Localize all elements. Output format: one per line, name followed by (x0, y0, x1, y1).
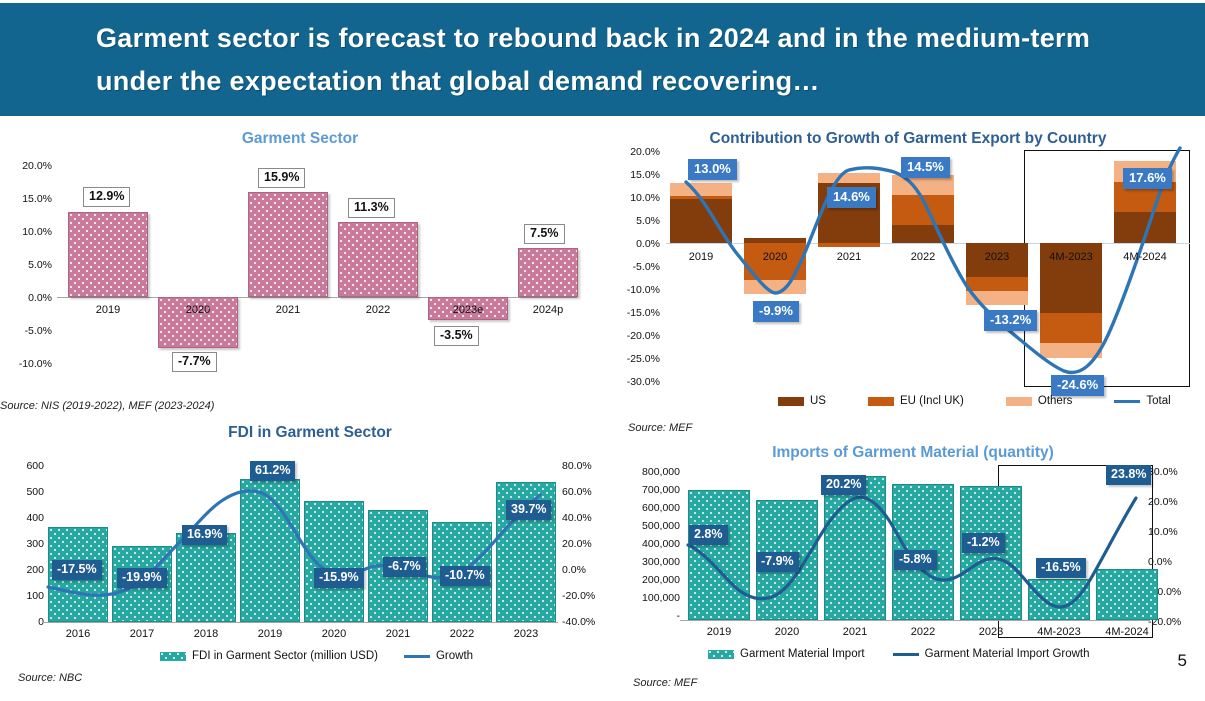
ytick-contrib-5: -5.0% (608, 261, 660, 273)
ytick-imports-right-0: 30.0% (1148, 466, 1204, 478)
bar-2021-eu[interactable] (818, 243, 880, 247)
ytick-fdi-left-5: 100 (0, 590, 44, 602)
bar-2023-eu[interactable] (966, 277, 1028, 291)
ytick-garment-3: 5.0% (0, 259, 52, 271)
xtick-imports-2: 2021 (824, 626, 886, 638)
page-title-line2: under the expectation that global demand… (96, 60, 1090, 103)
data-label-fdi-2022: -10.7% (440, 566, 490, 586)
ytick-contrib-0: 20.0% (608, 146, 660, 158)
ytick-imports-left-7: 100,000 (618, 592, 680, 604)
ytick-imports-left-2: 600,000 (618, 502, 680, 514)
ytick-imports-left-8: - (618, 610, 680, 622)
bar-4m2023-others[interactable] (1040, 343, 1102, 358)
data-label-contrib-4m2024: 17.6% (1123, 168, 1172, 189)
bar-imports-2019[interactable] (688, 490, 750, 620)
data-label-contrib-2020: -9.9% (753, 301, 799, 322)
data-label-contrib-2021: 14.6% (827, 187, 876, 208)
xtick-garment-1: 2020 (158, 304, 238, 316)
ytick-imports-left-1: 700,000 (618, 484, 680, 496)
data-label-imports-4m2023: -16.5% (1036, 558, 1086, 578)
chart-garment-sector: Garment Sector 20.0% 15.0% 10.0% 5.0% 0.… (0, 130, 600, 415)
legend-swatch-us (778, 397, 804, 406)
xtick-imports-0: 2019 (688, 626, 750, 638)
xtick-imports-4: 2023 (960, 626, 1022, 638)
xtick-fdi-0: 2016 (48, 628, 108, 640)
data-label-imports-2019: 2.8% (689, 525, 728, 545)
xtick-contrib-1: 2020 (744, 251, 806, 263)
bar-fdi-2020[interactable] (304, 501, 364, 622)
bar-2023-others[interactable] (966, 291, 1028, 305)
ytick-imports-left-5: 300,000 (618, 556, 680, 568)
ytick-fdi-left-2: 400 (0, 512, 44, 524)
xtick-garment-2: 2021 (248, 304, 328, 316)
xtick-contrib-5: 4M-2023 (1040, 251, 1102, 263)
data-label-2024p: 7.5% (524, 224, 565, 244)
legend-label-fdi: FDI in Garment Sector (million USD) (192, 650, 378, 662)
xtick-contrib-3: 2022 (892, 251, 954, 263)
data-label-fdi-2016: -17.5% (52, 560, 102, 580)
ytick-fdi-left-0: 600 (0, 460, 44, 472)
bar-2021[interactable] (248, 192, 328, 297)
data-label-fdi-2017: -19.9% (117, 568, 167, 588)
xtick-fdi-5: 2021 (368, 628, 428, 640)
ytick-imports-left-4: 400,000 (618, 538, 680, 550)
chart-contribution-to-growth: Contribution to Growth of Garment Export… (608, 130, 1205, 440)
chart-title-garment-sector: Garment Sector (0, 130, 600, 148)
legend-item-material-import-growth[interactable]: Garment Material Import Growth (893, 648, 1090, 660)
ytick-fdi-left-1: 500 (0, 486, 44, 498)
ytick-contrib-1: 15.0% (608, 169, 660, 181)
legend-swatch-total (1114, 397, 1140, 406)
ytick-imports-left-0: 800,000 (618, 466, 680, 478)
ytick-contrib-8: -20.0% (608, 330, 660, 342)
legend-swatch-material-import-growth (893, 650, 919, 659)
legend-label-eu: EU (Incl UK) (900, 395, 964, 407)
ytick-fdi-left-6: 0 (0, 616, 44, 628)
chart-title-contribution: Contribution to Growth of Garment Export… (628, 130, 1188, 148)
data-label-fdi-2018: 16.9% (182, 525, 227, 545)
data-label-fdi-2020: -15.9% (314, 568, 364, 588)
legend-item-us[interactable]: US (778, 395, 826, 407)
xtick-garment-4: 2023e (428, 304, 508, 316)
xtick-contrib-4: 2023 (966, 251, 1028, 263)
ytick-garment-0: 20.0% (0, 160, 52, 172)
bar-imports-2023[interactable] (960, 486, 1022, 620)
ytick-garment-1: 15.0% (0, 193, 52, 205)
legend-label-total: Total (1146, 395, 1170, 407)
xtick-garment-5: 2024p (518, 304, 578, 316)
xtick-garment-3: 2022 (338, 304, 418, 316)
xtick-fdi-6: 2022 (432, 628, 492, 640)
slide: Garment sector is forecast to rebound ba… (0, 0, 1205, 701)
ytick-contrib-7: -15.0% (608, 307, 660, 319)
ytick-contrib-10: -30.0% (608, 376, 660, 388)
xtick-imports-6: 4M-2024 (1096, 626, 1158, 638)
xtick-imports-1: 2020 (756, 626, 818, 638)
data-label-fdi-2021: -6.7% (383, 557, 426, 577)
xtick-fdi-3: 2019 (240, 628, 300, 640)
chart-imports-of-garment-material: Imports of Garment Material (quantity) 8… (608, 440, 1205, 701)
data-label-imports-4m2024: 23.8% (1106, 465, 1151, 485)
slide-header-banner: Garment sector is forecast to rebound ba… (0, 3, 1205, 116)
source-imports: Source: MEF (633, 677, 697, 689)
source-fdi: Source: NBC (18, 672, 82, 684)
xtick-fdi-4: 2020 (304, 628, 364, 640)
ytick-imports-left-6: 200,000 (618, 574, 680, 586)
data-label-imports-2021: 20.2% (821, 475, 866, 495)
ytick-contrib-9: -25.0% (608, 353, 660, 365)
page-title: Garment sector is forecast to rebound ba… (0, 17, 1130, 103)
bar-2019-others[interactable] (670, 183, 732, 196)
legend-label-us: US (810, 395, 826, 407)
bar-2021-others[interactable] (818, 173, 880, 183)
ytick-garment-4: 0.0% (0, 292, 52, 304)
legend-contribution: US EU (Incl UK) Others Total (778, 395, 1171, 407)
legend-fdi: FDI in Garment Sector (million USD) Grow… (160, 650, 473, 662)
bar-fdi-2019[interactable] (240, 479, 300, 622)
legend-label-material-import-growth: Garment Material Import Growth (925, 648, 1090, 660)
xtick-contrib-2: 2021 (818, 251, 880, 263)
ytick-garment-2: 10.0% (0, 226, 52, 238)
xtick-garment-0: 2019 (68, 304, 148, 316)
data-label-2023e: -3.5% (434, 326, 479, 346)
legend-item-material-import[interactable]: Garment Material Import (708, 648, 865, 660)
data-label-2020: -7.7% (172, 352, 217, 372)
data-label-imports-2023: -1.2% (962, 533, 1005, 553)
ytick-imports-left-3: 500,000 (618, 520, 680, 532)
legend-label-others: Others (1038, 395, 1073, 407)
chart-title-imports: Imports of Garment Material (quantity) (648, 444, 1178, 462)
legend-item-eu[interactable]: EU (Incl UK) (868, 395, 964, 407)
xtick-imports-3: 2022 (892, 626, 954, 638)
bar-imports-4m2023[interactable] (1028, 579, 1090, 620)
bar-imports-4m2024[interactable] (1096, 569, 1158, 620)
ytick-contrib-6: -10.0% (608, 284, 660, 296)
ytick-garment-6: -10.0% (0, 358, 52, 370)
legend-swatch-others (1006, 397, 1032, 406)
bar-imports-2021[interactable] (824, 476, 886, 620)
xtick-fdi-1: 2017 (112, 628, 172, 640)
x-axis-line (42, 622, 558, 623)
ytick-contrib-4: 0.0% (608, 238, 660, 250)
legend-swatch-eu (868, 397, 894, 406)
xtick-contrib-6: 4M-2024 (1114, 251, 1176, 263)
legend-item-others[interactable]: Others (1006, 395, 1073, 407)
ytick-imports-right-1: 20.0% (1148, 496, 1204, 508)
bar-2024p[interactable] (518, 248, 578, 297)
chart-title-fdi: FDI in Garment Sector (10, 424, 610, 442)
ytick-fdi-left-3: 300 (0, 538, 44, 550)
bar-4m2024-us[interactable] (1114, 212, 1176, 243)
data-label-contrib-4m2023: -24.6% (1051, 375, 1104, 396)
chart-fdi-in-garment-sector: FDI in Garment Sector 600 500 400 300 20… (0, 420, 620, 701)
legend-label-growth: Growth (436, 650, 473, 662)
legend-imports: Garment Material Import Garment Material… (708, 648, 1090, 660)
ytick-contrib-3: 5.0% (608, 215, 660, 227)
xtick-fdi-7: 2023 (496, 628, 556, 640)
ytick-garment-5: -5.0% (0, 325, 52, 337)
data-label-2021: 15.9% (258, 168, 305, 188)
page-number: 5 (1178, 651, 1187, 671)
bar-2019[interactable] (68, 212, 148, 297)
ytick-imports-right-2: 10.0% (1148, 526, 1204, 538)
bar-2019-eu[interactable] (670, 196, 732, 199)
bar-2019-us[interactable] (670, 198, 732, 243)
bar-2020-others[interactable] (744, 280, 806, 294)
bar-2022-us[interactable] (892, 225, 954, 243)
xtick-imports-5: 4M-2023 (1028, 626, 1090, 638)
data-label-contrib-2023: -13.2% (984, 310, 1037, 331)
legend-swatch-fdi (160, 652, 186, 661)
data-label-imports-2022: -5.8% (894, 550, 937, 570)
ytick-contrib-2: 10.0% (608, 192, 660, 204)
ytick-fdi-left-4: 200 (0, 564, 44, 576)
x-axis-line (680, 620, 1150, 621)
data-label-2019: 12.9% (83, 187, 130, 207)
legend-label-material-import: Garment Material Import (740, 648, 865, 660)
data-label-2022: 11.3% (348, 198, 395, 218)
bar-2022[interactable] (338, 222, 418, 297)
xtick-contrib-0: 2019 (670, 251, 732, 263)
legend-item-fdi-bars[interactable]: FDI in Garment Sector (million USD) (160, 650, 378, 662)
bar-4m2023-eu[interactable] (1040, 313, 1102, 343)
bar-fdi-2018[interactable] (176, 533, 236, 622)
data-label-fdi-2019: 61.2% (250, 461, 295, 481)
legend-swatch-growth (404, 652, 430, 661)
page-title-line1: Garment sector is forecast to rebound ba… (96, 17, 1090, 60)
legend-item-total[interactable]: Total (1114, 395, 1170, 407)
data-label-imports-2020: -7.9% (756, 552, 799, 572)
source-contribution: Source: MEF (628, 422, 692, 434)
ytick-imports-right-3: 0.0% (1148, 556, 1204, 568)
data-label-contrib-2019: 13.0% (688, 159, 737, 180)
legend-item-growth[interactable]: Growth (404, 650, 473, 662)
bar-2022-eu[interactable] (892, 195, 954, 225)
legend-swatch-material-import (708, 650, 734, 659)
data-label-contrib-2022: 14.5% (901, 157, 950, 178)
source-garment-sector: Source: NIS (2019-2022), MEF (2023-2024) (0, 400, 214, 412)
data-label-fdi-2023: 39.7% (506, 500, 551, 520)
bar-2022-others[interactable] (892, 175, 954, 195)
xtick-fdi-2: 2018 (176, 628, 236, 640)
